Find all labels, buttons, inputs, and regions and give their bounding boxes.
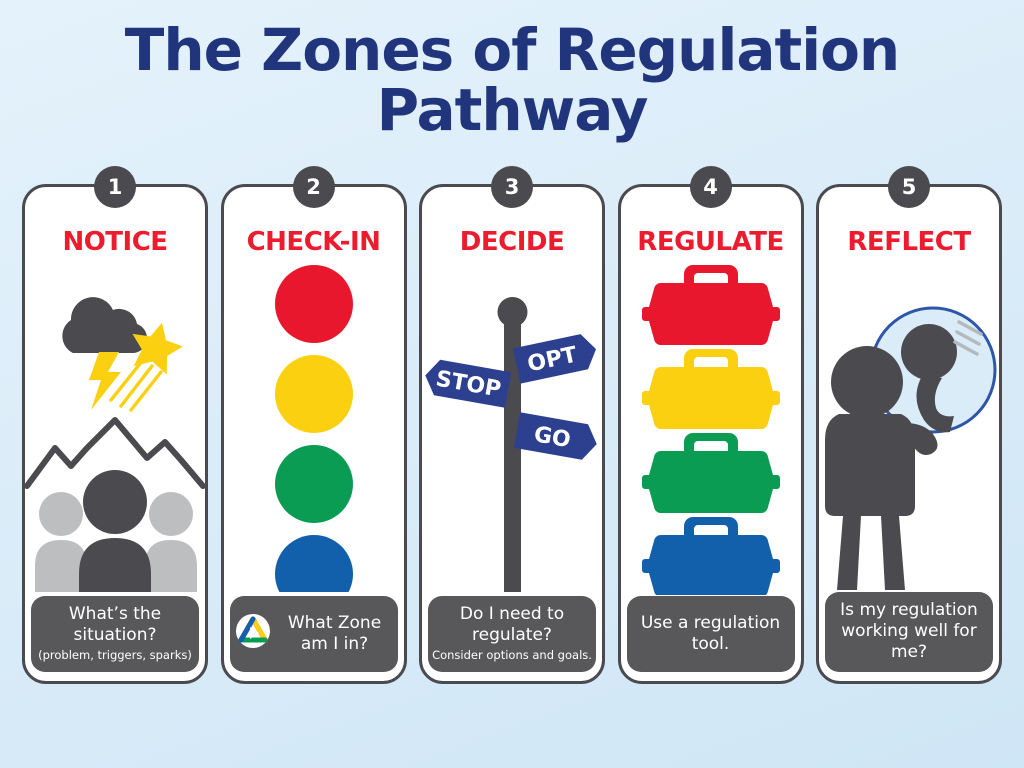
step-number-badge: 1 (94, 166, 136, 208)
step-art-notice (25, 257, 205, 596)
steps-row: 1 NOTICE (22, 184, 1002, 684)
toolboxes-illustration (621, 259, 801, 595)
step-title-regulate: REGULATE (637, 227, 783, 257)
red-toolbox-icon (642, 265, 780, 345)
people-group-icon (35, 470, 197, 592)
step-number-badge: 2 (293, 166, 335, 208)
poster-root: The Zones of Regulation Pathway 1 NOTICE (0, 0, 1024, 768)
step-art-check-in (224, 257, 404, 596)
step-card-notice[interactable]: 1 NOTICE (22, 184, 208, 684)
step-card-decide[interactable]: 3 DECIDE STOP OPT (419, 184, 605, 684)
page-title: The Zones of Regulation Pathway (0, 20, 1024, 140)
step-caption-notice: What’s the situation? (problem, triggers… (31, 596, 199, 672)
traffic-light-circles (224, 262, 404, 592)
yellow-zone-circle-icon (275, 355, 353, 433)
step-number-badge: 3 (491, 166, 533, 208)
step-card-check-in[interactable]: 2 CHECK-IN (221, 184, 407, 684)
step-art-decide: STOP OPT GO (422, 257, 602, 596)
caption-main: Use a regulation tool. (631, 613, 791, 655)
storm-cloud-icon (62, 297, 147, 353)
yellow-toolbox-icon (642, 349, 780, 429)
step-caption-decide: Do I need to regulate? Consider options … (428, 596, 596, 672)
notice-illustration (25, 262, 205, 592)
step-title-notice: NOTICE (62, 227, 167, 257)
step-caption-reflect: Is my regulation working well for me? (825, 592, 993, 672)
green-toolbox-icon (642, 433, 780, 513)
signpost-icon: STOP OPT GO (422, 262, 602, 592)
sign-go: GO (514, 412, 600, 462)
step-title-check-in: CHECK-IN (247, 227, 381, 257)
lightning-bolt-icon (89, 352, 121, 410)
footer: THE ZONES OF REGULATION DIGITAL CURRICUL… (0, 688, 1024, 768)
sign-opt: OPT (513, 331, 600, 383)
title-line-1: The Zones of Regulation (0, 20, 1024, 80)
zones-triangle-logo (236, 614, 270, 653)
title-line-2: Pathway (0, 80, 1024, 140)
step-card-regulate[interactable]: 4 REGULATE (618, 184, 804, 684)
step-caption-regulate: Use a regulation tool. (627, 596, 795, 672)
caption-main: What’s the situation? (35, 604, 195, 646)
caption-main: What Zone am I in? (276, 613, 394, 655)
step-number-badge: 5 (888, 166, 930, 208)
caption-sub: Consider options and goals. (432, 648, 592, 663)
green-zone-circle-icon (275, 445, 353, 523)
step-number-badge: 4 (690, 166, 732, 208)
sign-stop: STOP (422, 357, 511, 407)
caption-sub: (problem, triggers, sparks) (38, 648, 192, 663)
blue-toolbox-icon (642, 517, 780, 595)
caption-main: Is my regulation working well for me? (829, 600, 989, 663)
red-zone-circle-icon (275, 265, 353, 343)
person-mirror-icon (819, 260, 999, 590)
step-art-reflect (819, 257, 999, 592)
step-caption-check-in: What Zone am I in? (230, 596, 398, 672)
step-art-regulate (621, 257, 801, 596)
step-title-decide: DECIDE (460, 227, 564, 257)
caption-main: Do I need to regulate? (432, 604, 592, 646)
step-card-reflect[interactable]: 5 REFLECT (816, 184, 1002, 684)
step-title-reflect: REFLECT (847, 227, 970, 257)
blue-zone-circle-icon (275, 535, 353, 592)
